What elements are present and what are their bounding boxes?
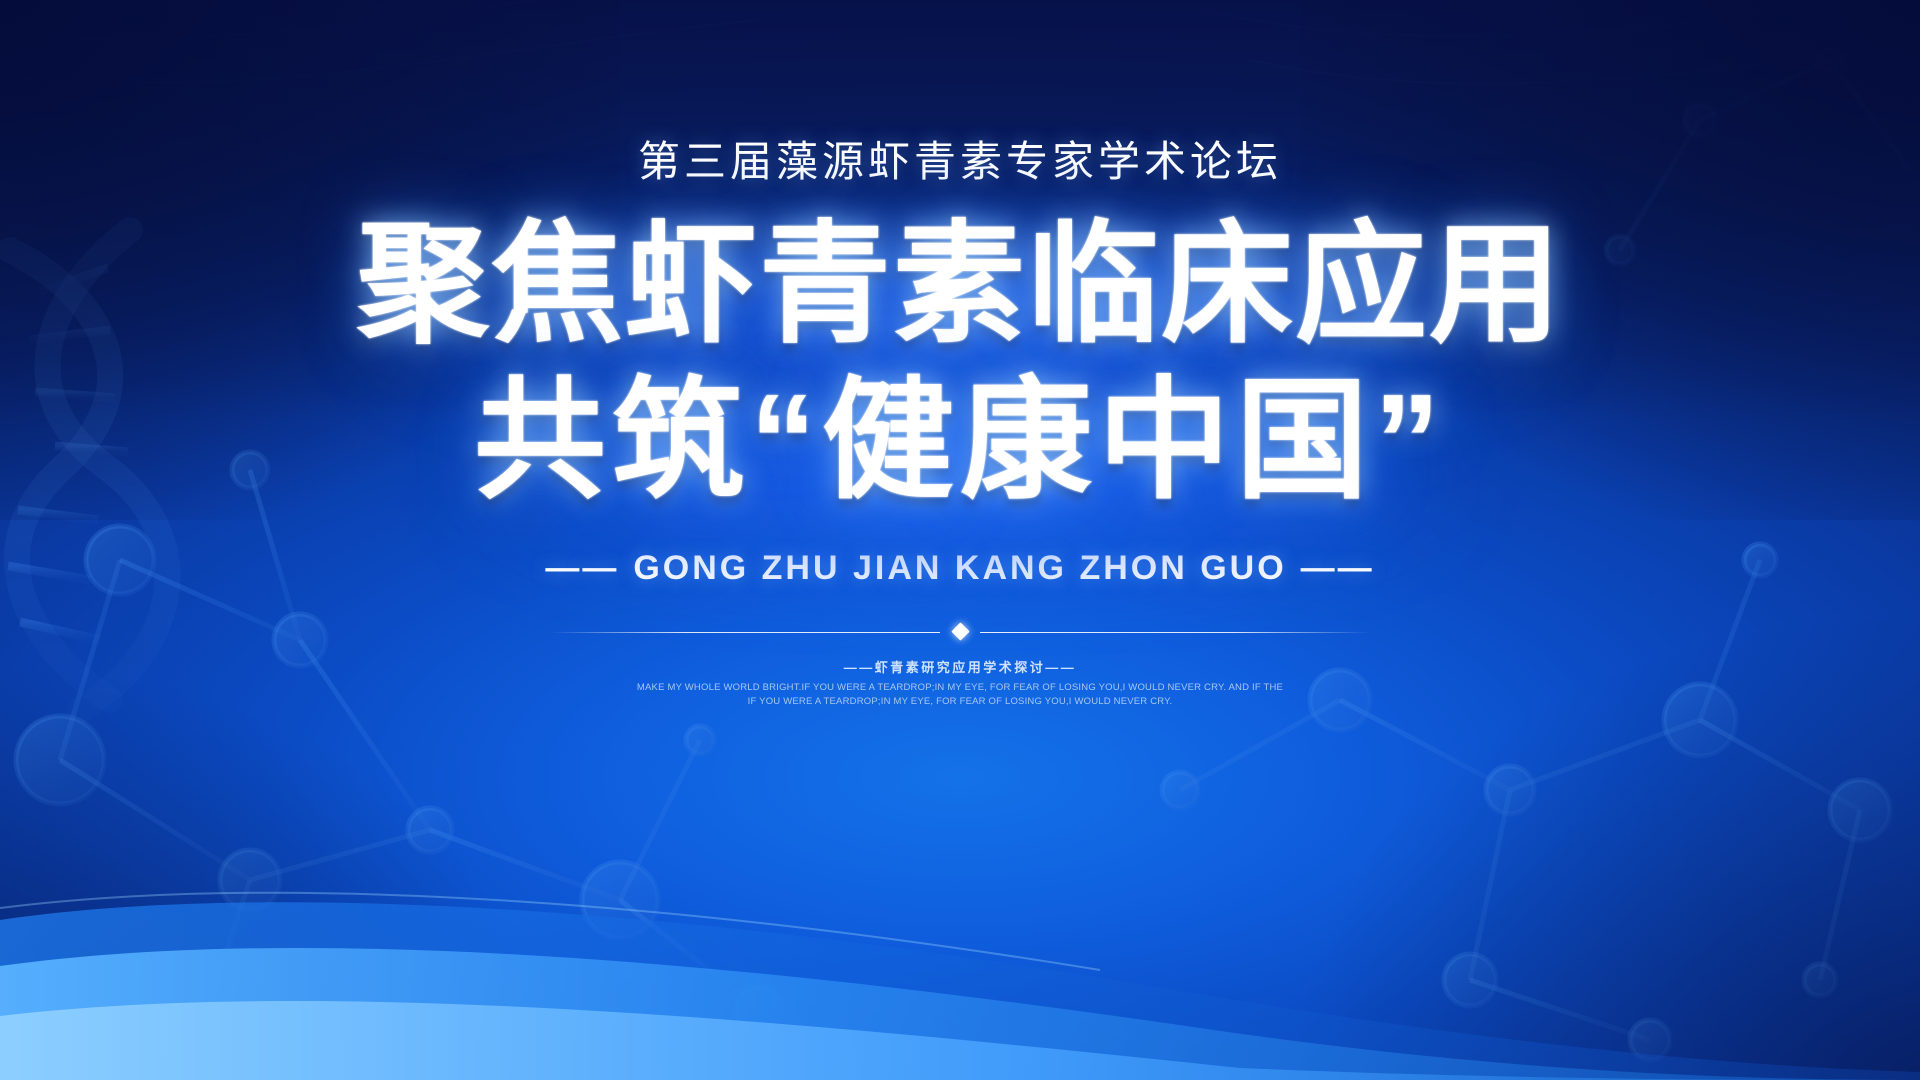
diamond-divider — [550, 624, 1370, 640]
pinyin-row: —— GONG ZHU JIAN KANG ZHON GUO —— — [545, 549, 1374, 588]
main-title-line-1: 聚焦虾青素临床应用 — [357, 207, 1563, 363]
divider-line-left — [550, 632, 940, 633]
english-caption-line-2: IF YOU WERE A TEARDROP;IN MY EYE, FOR FE… — [610, 695, 1310, 710]
poster-canvas: 第三届藻源虾青素专家学术论坛 聚焦虾青素临床应用 共筑“健康中国” —— GON… — [0, 0, 1920, 1080]
pinyin-dash-left: —— — [545, 549, 619, 588]
pinyin-dash-right: —— — [1301, 549, 1375, 588]
pinyin-text: GONG ZHU JIAN KANG ZHON GUO — [633, 549, 1286, 588]
poster-content: 第三届藻源虾青素专家学术论坛 聚焦虾青素临床应用 共筑“健康中国” —— GON… — [0, 0, 1920, 1080]
divider-line-right — [980, 632, 1370, 633]
chinese-subtitle: ——虾青素研究应用学术探讨—— — [844, 657, 1077, 676]
english-caption-block: MAKE MY WHOLE WORLD BRIGHT.IF YOU WERE A… — [610, 681, 1310, 710]
main-title-line-2: 共筑“健康中国” — [357, 363, 1563, 519]
english-caption-line-1: MAKE MY WHOLE WORLD BRIGHT.IF YOU WERE A… — [610, 681, 1310, 696]
main-title-block: 聚焦虾青素临床应用 共筑“健康中国” — [357, 207, 1563, 519]
event-eyebrow-title: 第三届藻源虾青素专家学术论坛 — [638, 128, 1282, 189]
diamond-icon — [951, 622, 969, 640]
